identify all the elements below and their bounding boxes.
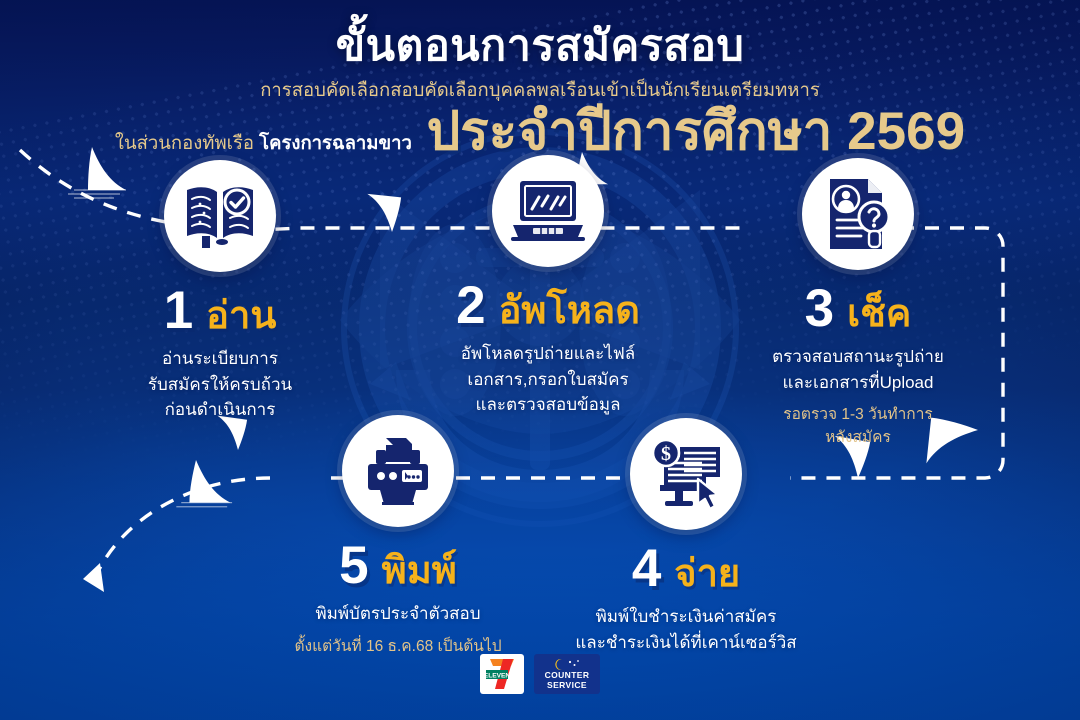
step-3-desc-line: และเอกสารที่Upload — [728, 370, 988, 396]
step-1[interactable]: 1 อ่าน อ่านระเบียบการ รับสมัครให้ครบถ้วน… — [90, 160, 350, 423]
step-3-description: ตรวจสอบสถานะรูปถ่าย และเอกสารที่Upload — [728, 344, 988, 395]
step-2-desc-line: เอกสาร,กรอกใบสมัคร — [418, 367, 678, 393]
subtitle-suffix: ประจำปีการศึกษา 2569 — [412, 102, 965, 161]
step-4-headline: 4 จ่าย — [556, 542, 816, 595]
step-1-description: อ่านระเบียบการ รับสมัครให้ครบถ้วน ก่อนดำ… — [90, 346, 350, 423]
subtitle-program-name: โครงการฉลามขาว — [259, 132, 412, 153]
step-4-number: 4 — [632, 542, 661, 595]
payment-monitor-icon: $ — [648, 439, 724, 509]
step-5-description: พิมพ์บัตรประจำตัวสอบ — [268, 601, 528, 627]
step-2-headline: 2 อัพโหลด — [418, 279, 678, 332]
step-1-headline: 1 อ่าน — [90, 284, 350, 337]
subtitle-line-1: การสอบคัดเลือกสอบคัดเลือกบุคคลพลเรือนเข้… — [0, 75, 1080, 105]
step-5-headline: 5 พิมพ์ — [268, 539, 528, 592]
step-2-description: อัพโหลดรูปถ่ายและไฟล์ เอกสาร,กรอกใบสมัคร… — [418, 341, 678, 418]
step-3-number: 3 — [805, 282, 834, 335]
seven-eleven-label: ELEVEN — [484, 672, 511, 679]
step-4[interactable]: $ 4 จ่าย พิมพ์ใบชำระเงินค่าสมัคร และชำระ… — [556, 418, 816, 655]
step-2[interactable]: 2 อัพโหลด อัพโหลดรูปถ่ายและไฟล์ เอกสาร,ก… — [418, 155, 678, 418]
document-profile-search-icon — [822, 177, 894, 251]
subtitle: การสอบคัดเลือกสอบคัดเลือกบุคคลพลเรือนเข้… — [0, 75, 1080, 158]
step-5[interactable]: 5 พิมพ์ พิมพ์บัตรประจำตัวสอบ ตั้งแต่วันท… — [268, 415, 528, 658]
step-3-headline: 3 เช็ค — [728, 282, 988, 335]
seven-eleven-logo: ELEVEN — [480, 654, 524, 694]
step-2-desc-line: และตรวจสอบข้อมูล — [418, 392, 678, 418]
step-5-word: พิมพ์ — [382, 552, 457, 590]
subtitle-prefix: ในส่วนกองทัพเรือ — [115, 132, 259, 153]
header: ขั้นตอนการสมัครสอบ การสอบคัดเลือกสอบคัดเ… — [0, 8, 1080, 158]
step-3-word: เช็ค — [847, 295, 911, 333]
step-1-desc-line: อ่านระเบียบการ — [90, 346, 350, 372]
step-5-desc-line: พิมพ์บัตรประจำตัวสอบ — [268, 601, 528, 627]
step-3[interactable]: 3 เช็ค ตรวจสอบสถานะรูปถ่าย และเอกสารที่U… — [728, 158, 988, 450]
step-5-number: 5 — [339, 539, 368, 592]
seven-eleven-icon: ELEVEN — [483, 657, 521, 691]
counter-service-logo: COUNTER SERVICE — [534, 654, 600, 694]
step-1-desc-line: รับสมัครให้ครบถ้วน — [90, 372, 350, 398]
moon-stars-icon — [552, 659, 582, 670]
laptop-upload-icon — [509, 179, 587, 243]
step-5-icon-disc — [342, 415, 454, 527]
step-2-desc-line: อัพโหลดรูปถ่ายและไฟล์ — [418, 341, 678, 367]
subtitle-line-2: ในส่วนกองทัพเรือ โครงการฉลามขาว ประจำปีก… — [0, 105, 1080, 158]
step-3-icon-disc — [802, 158, 914, 270]
step-2-icon-disc — [492, 155, 604, 267]
svg-text:$: $ — [661, 443, 671, 465]
step-4-desc-line: และชำระเงินได้ที่เคาน์เซอร์วิส — [556, 630, 816, 656]
step-4-word: จ่าย — [674, 555, 740, 593]
step-4-icon-disc: $ — [630, 418, 742, 530]
page-title: ขั้นตอนการสมัครสอบ — [0, 22, 1080, 71]
counter-service-label-1: COUNTER — [545, 671, 590, 680]
step-2-number: 2 — [456, 279, 485, 332]
step-1-icon-disc — [164, 160, 276, 272]
step-4-description: พิมพ์ใบชำระเงินค่าสมัคร และชำระเงินได้ที… — [556, 604, 816, 655]
open-book-check-icon — [184, 182, 256, 250]
payment-channel-logos: ELEVEN COUNTER SERVICE — [0, 654, 1080, 694]
printer-icon — [362, 436, 434, 506]
counter-service-label-2: SERVICE — [547, 681, 587, 690]
step-2-word: อัพโหลด — [499, 292, 640, 330]
infographic-poster: ขั้นตอนการสมัครสอบ การสอบคัดเลือกสอบคัดเ… — [0, 0, 1080, 720]
step-1-word: อ่าน — [206, 297, 276, 335]
step-3-desc-line: ตรวจสอบสถานะรูปถ่าย — [728, 344, 988, 370]
step-1-number: 1 — [164, 284, 193, 337]
step-4-desc-line: พิมพ์ใบชำระเงินค่าสมัคร — [556, 604, 816, 630]
